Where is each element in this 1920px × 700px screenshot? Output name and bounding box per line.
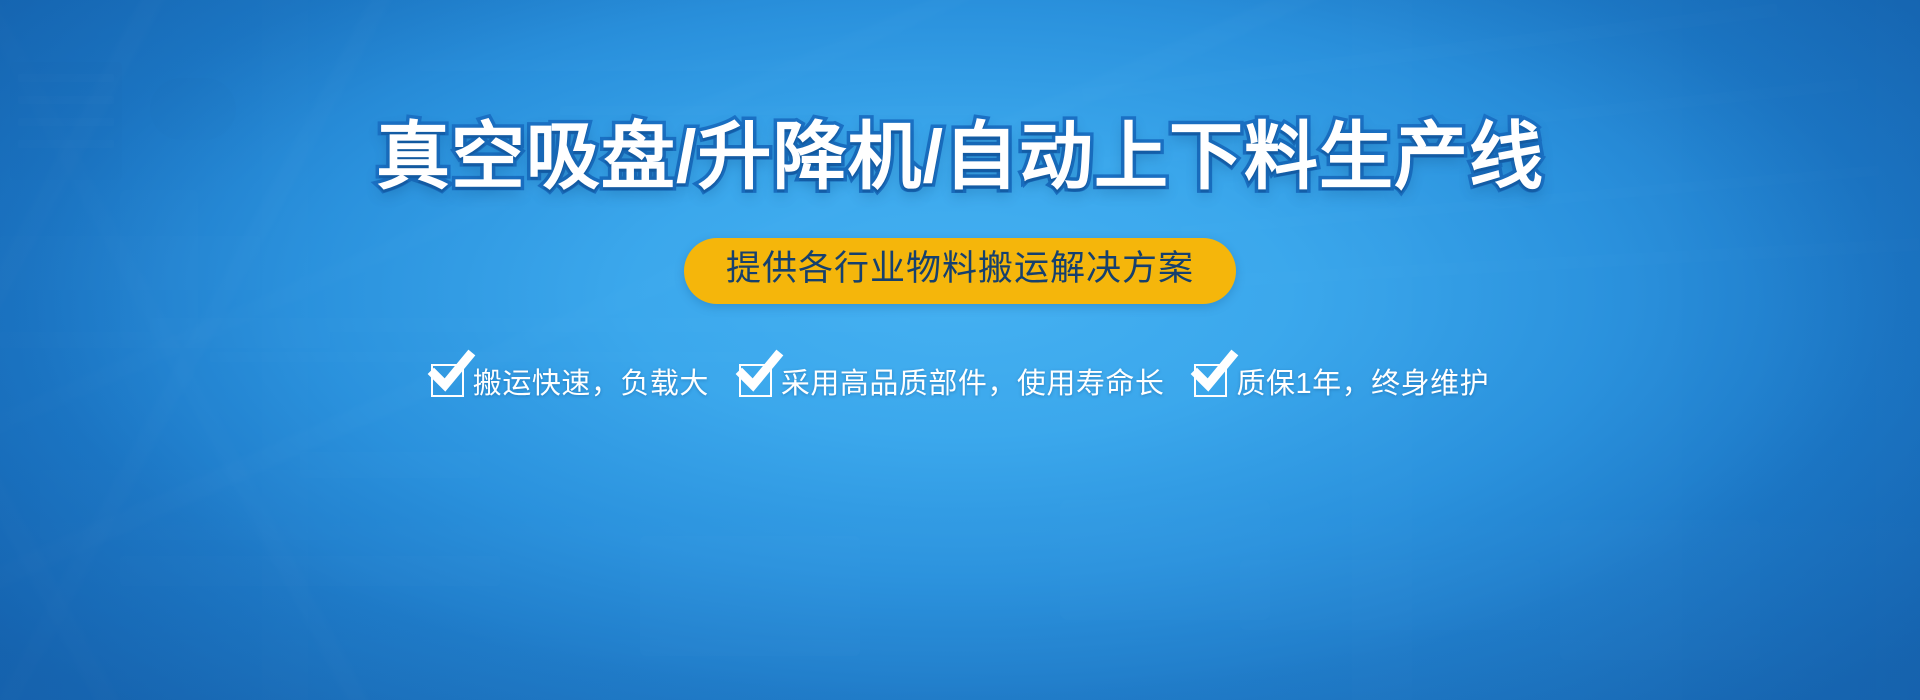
banner-subtitle: 提供各行业物料搬运解决方案: [726, 249, 1194, 288]
banner-content: 真空吸盘/升降机/自动上下料生产线 提供各行业物料搬运解决方案 搬运快速，负载大: [0, 0, 1920, 700]
feature-list: 搬运快速，负载大 采用高品质部件，使用寿命长 质保1年，终身维护: [431, 360, 1489, 402]
banner-subtitle-pill: 提供各行业物料搬运解决方案: [684, 238, 1236, 304]
feature-label: 质保1年，终身维护: [1236, 360, 1489, 402]
check-square-icon: [739, 364, 772, 397]
check-square-icon: [431, 364, 464, 397]
feature-item: 搬运快速，负载大: [431, 360, 709, 402]
banner-title: 真空吸盘/升降机/自动上下料生产线: [376, 118, 1544, 196]
check-square-icon: [1194, 364, 1227, 397]
feature-item: 质保1年，终身维护: [1194, 360, 1489, 402]
feature-label: 搬运快速，负载大: [473, 360, 709, 402]
hero-banner: 真空吸盘/升降机/自动上下料生产线 提供各行业物料搬运解决方案 搬运快速，负载大: [0, 0, 1920, 700]
feature-item: 采用高品质部件，使用寿命长: [739, 360, 1165, 402]
feature-label: 采用高品质部件，使用寿命长: [781, 360, 1165, 402]
